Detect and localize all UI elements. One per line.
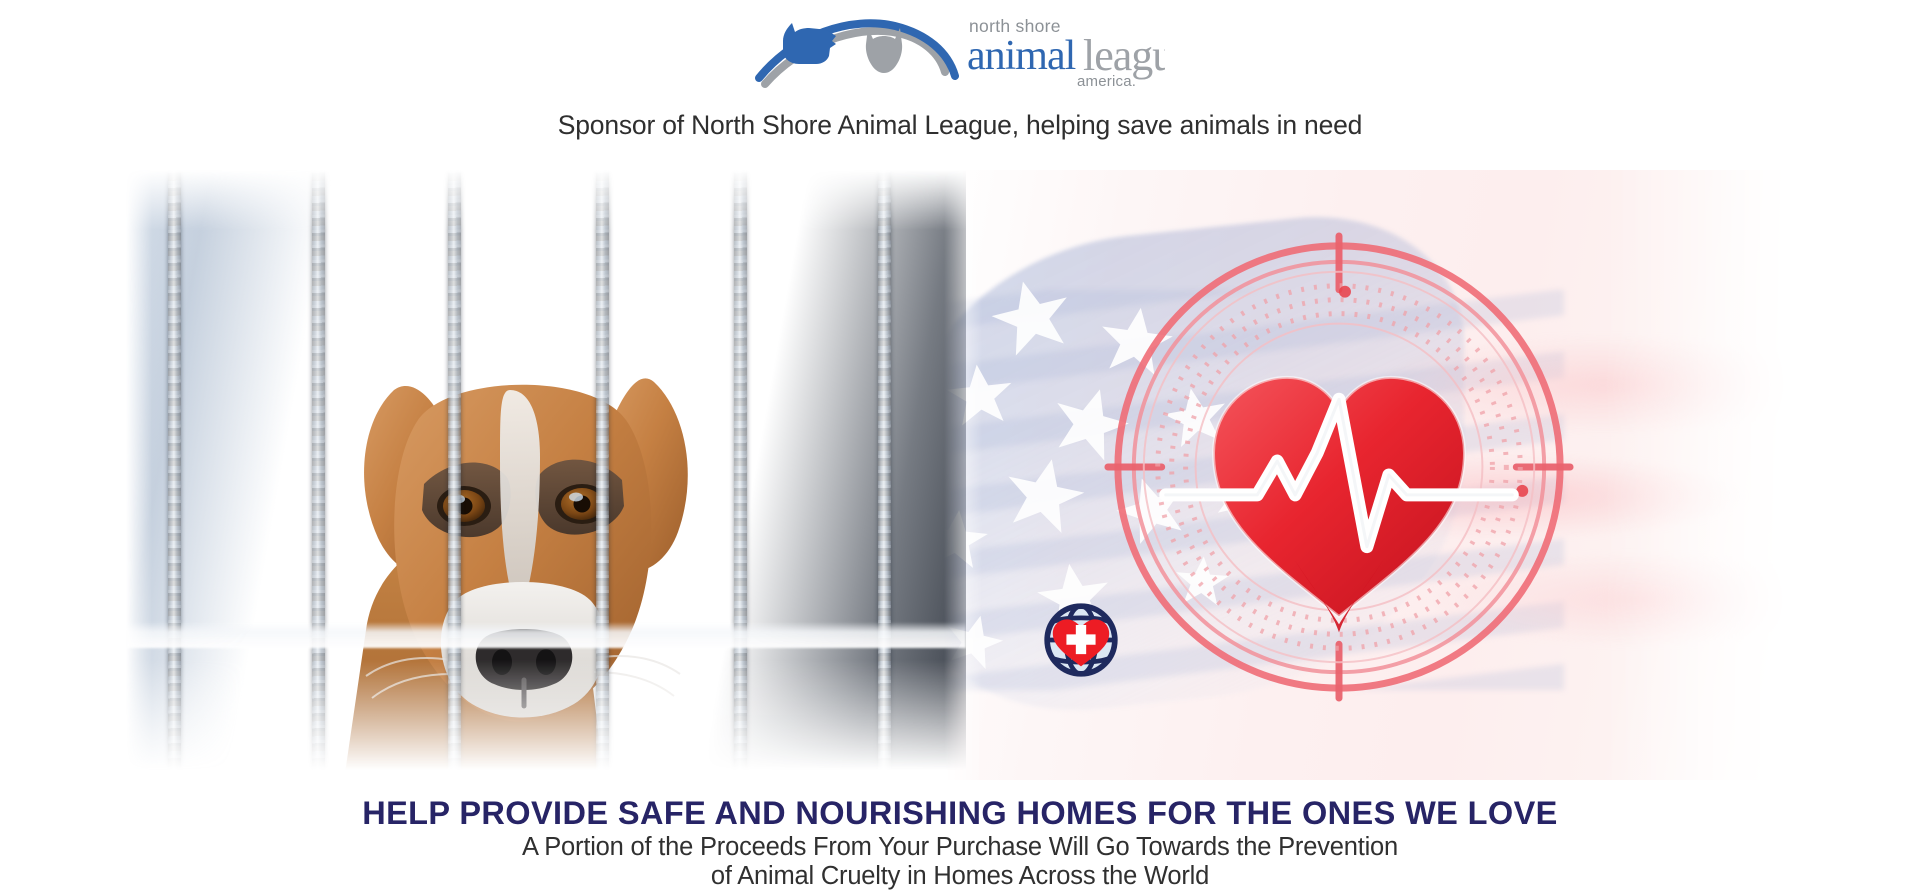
subcopy-line-1: A Portion of the Proceeds From Your Purc… [0,833,1920,862]
logo-animal-text: animal [967,33,1076,79]
cage-bar [312,170,325,780]
sponsor-banner-page: north shore animal league america. Spons… [0,0,1920,893]
cage-bar [168,170,181,780]
globe-heart-badge [1034,593,1128,687]
heart-flag-image [944,170,1791,780]
nsal-logo: north shore animal league america. [0,8,1920,90]
subcopy-line-2: of Animal Cruelty in Homes Across the Wo… [0,862,1920,891]
hero-banner [126,170,1791,780]
heart-heartbeat-emblem [1090,218,1588,716]
page-subcopy: A Portion of the Proceeds From Your Purc… [0,833,1920,890]
cage-bar [448,170,461,780]
nsal-logo-graphic: north shore animal league america. [755,8,1165,90]
cage-bar [734,170,747,780]
dog-in-cage-image [126,170,966,780]
logo-america-text: america. [1077,73,1136,90]
cage-bar [596,170,609,780]
page-headline: HELP PROVIDE SAFE AND NOURISHING HOMES F… [0,795,1920,832]
cage-ledge [126,622,966,648]
sponsor-tagline: Sponsor of North Shore Animal League, he… [0,110,1920,141]
cage-bars [126,170,966,780]
cage-bar [878,170,891,780]
